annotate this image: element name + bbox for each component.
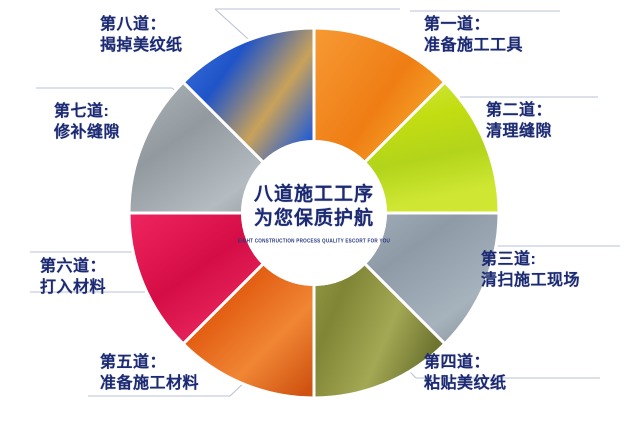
hub-subtitle-en: EIGHT CONSTRUCTION PROCESS QUALITY ESCOR… bbox=[238, 237, 390, 243]
label-step-3[interactable]: 第三道: 清扫施工现场 bbox=[481, 249, 580, 291]
label-step-1-line1: 第一道： bbox=[424, 16, 490, 33]
label-step-2[interactable]: 第二道： 清理缝隙 bbox=[486, 100, 552, 142]
label-step-8-line2: 揭掉美纹纸 bbox=[100, 35, 183, 56]
label-step-4-line1: 第四道： bbox=[424, 354, 490, 371]
label-step-6[interactable]: 第六道： 打入材料 bbox=[40, 256, 106, 298]
infographic-canvas: 八道施工工序 为您保质护航 EIGHT CONSTRUCTION PROCESS… bbox=[0, 0, 628, 427]
label-step-7-line1: 第七道: bbox=[54, 103, 109, 120]
label-step-6-line2: 打入材料 bbox=[40, 277, 106, 298]
label-step-7-line2: 修补缝隙 bbox=[54, 122, 120, 143]
label-step-1-line2: 准备施工工具 bbox=[424, 35, 523, 56]
label-step-6-line1: 第六道： bbox=[40, 258, 106, 275]
label-step-4-line2: 粘贴美纹纸 bbox=[424, 373, 507, 394]
label-step-1[interactable]: 第一道： 准备施工工具 bbox=[424, 14, 523, 56]
label-step-7[interactable]: 第七道: 修补缝隙 bbox=[54, 101, 120, 143]
label-step-4[interactable]: 第四道： 粘贴美纹纸 bbox=[424, 352, 507, 394]
label-step-8[interactable]: 第八道： 揭掉美纹纸 bbox=[100, 14, 183, 56]
hub-title-line1: 八道施工工序 bbox=[254, 183, 374, 207]
label-step-3-line2: 清扫施工现场 bbox=[481, 270, 580, 291]
label-step-2-line1: 第二道： bbox=[486, 102, 552, 119]
label-step-8-line1: 第八道： bbox=[100, 16, 166, 33]
label-step-5-line1: 第五道： bbox=[100, 354, 166, 371]
label-step-2-line2: 清理缝隙 bbox=[486, 121, 552, 142]
hub-title-line2: 为您保质护航 bbox=[254, 207, 374, 231]
center-hub: 八道施工工序 为您保质护航 EIGHT CONSTRUCTION PROCESS… bbox=[241, 140, 387, 286]
label-step-5-line2: 准备施工材料 bbox=[100, 373, 199, 394]
label-step-3-line1: 第三道: bbox=[481, 251, 536, 268]
label-step-5[interactable]: 第五道： 准备施工材料 bbox=[100, 352, 199, 394]
